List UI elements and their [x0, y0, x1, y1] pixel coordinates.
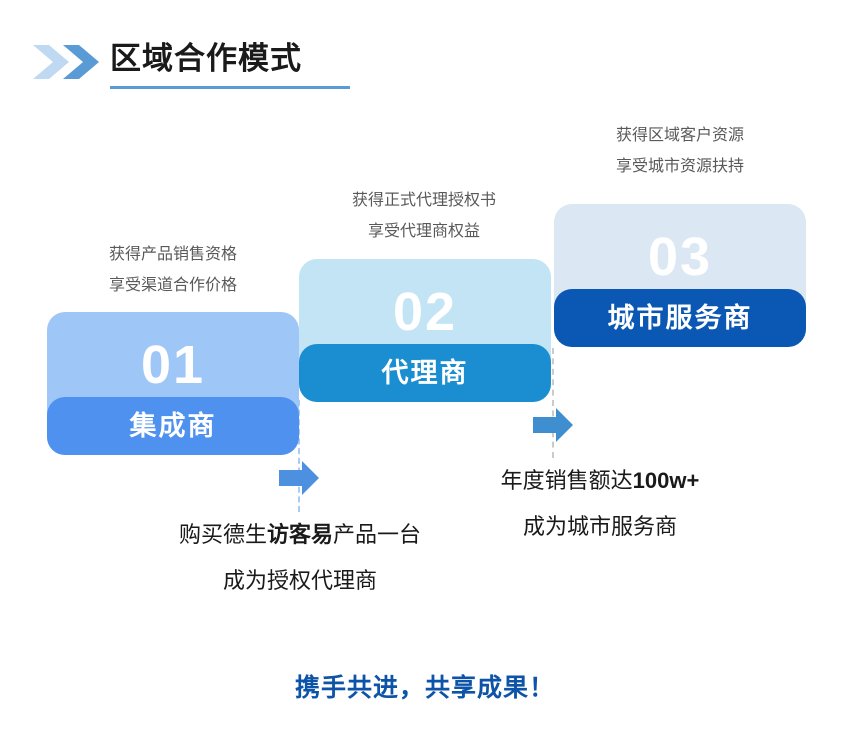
requirement-line-1: 年度销售额达100w+	[430, 458, 770, 504]
requirement-suffix: 产品一台	[333, 522, 421, 547]
requirement-highlight: 100w+	[633, 468, 700, 493]
step-card-2[interactable]: 02 代理商	[299, 259, 551, 402]
requirement-prefix: 年度销售额达	[501, 468, 633, 493]
step-card-1[interactable]: 01 集成商	[47, 312, 299, 455]
step-role-1: 集成商	[130, 413, 217, 440]
footer-tagline: 携手共进，共享成果！	[0, 668, 850, 704]
arrow-right-icon	[277, 459, 321, 497]
step-card-3[interactable]: 03 城市服务商	[554, 204, 806, 347]
step-benefits-3: 获得区域客户资源 享受城市资源扶持	[549, 120, 811, 182]
requirement-prefix: 购买德生	[179, 522, 267, 547]
partnership-tier-diagram: 获得产品销售资格 享受渠道合作价格 获得正式代理授权书 享受代理商权益 获得区域…	[0, 0, 850, 737]
arrow-right-icon	[531, 406, 575, 444]
requirement-highlight: 访客易	[267, 522, 333, 547]
benefit-line: 享受城市资源扶持	[549, 151, 811, 182]
step-requirement-2: 年度销售额达100w+ 成为城市服务商	[430, 458, 770, 550]
step-requirement-1: 购买德生访客易产品一台 成为授权代理商	[130, 512, 470, 604]
step-number-2: 02	[393, 285, 457, 339]
requirement-line-2: 成为授权代理商	[130, 558, 470, 604]
requirement-line-1: 购买德生访客易产品一台	[130, 512, 470, 558]
step-number-1: 01	[141, 338, 205, 392]
benefit-line: 获得产品销售资格	[47, 239, 299, 270]
benefit-line: 享受渠道合作价格	[47, 270, 299, 301]
step-benefits-2: 获得正式代理授权书 享受代理商权益	[291, 185, 557, 247]
step-card-footer-1: 集成商	[47, 397, 299, 455]
step-number-3: 03	[648, 230, 712, 284]
step-card-footer-2: 代理商	[299, 344, 551, 402]
step-role-2: 代理商	[382, 360, 469, 387]
requirement-line-2: 成为城市服务商	[430, 504, 770, 550]
step-benefits-1: 获得产品销售资格 享受渠道合作价格	[47, 239, 299, 301]
benefit-line: 享受代理商权益	[291, 216, 557, 247]
benefit-line: 获得正式代理授权书	[291, 185, 557, 216]
benefit-line: 获得区域客户资源	[549, 120, 811, 151]
step-card-footer-3: 城市服务商	[554, 289, 806, 347]
step-role-3: 城市服务商	[608, 305, 753, 332]
